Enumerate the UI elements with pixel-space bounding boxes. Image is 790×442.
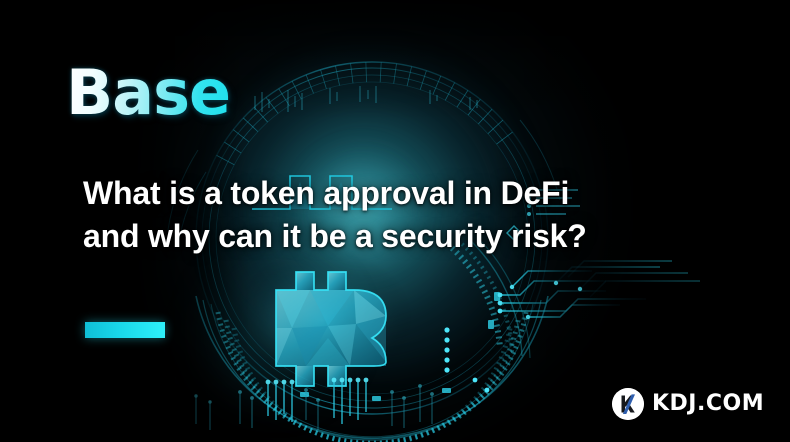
accent-bar [85, 322, 165, 338]
headline-line-1: What is a token approval in DeFi [83, 172, 729, 215]
watermark-kdj: KDJ.COM [612, 388, 764, 420]
headline-line-2: and why can it be a security risk? [83, 215, 729, 258]
watermark-text: KDJ.COM [652, 393, 764, 415]
kdj-logo-icon [612, 388, 644, 420]
kdj-logo-glyph [612, 388, 644, 420]
foreground-content: Base What is a token approval in DeFi an… [0, 0, 790, 442]
headline: What is a token approval in DeFi and why… [83, 172, 729, 258]
promo-banner: Base What is a token approval in DeFi an… [0, 0, 790, 442]
brand-title: Base [66, 62, 230, 124]
